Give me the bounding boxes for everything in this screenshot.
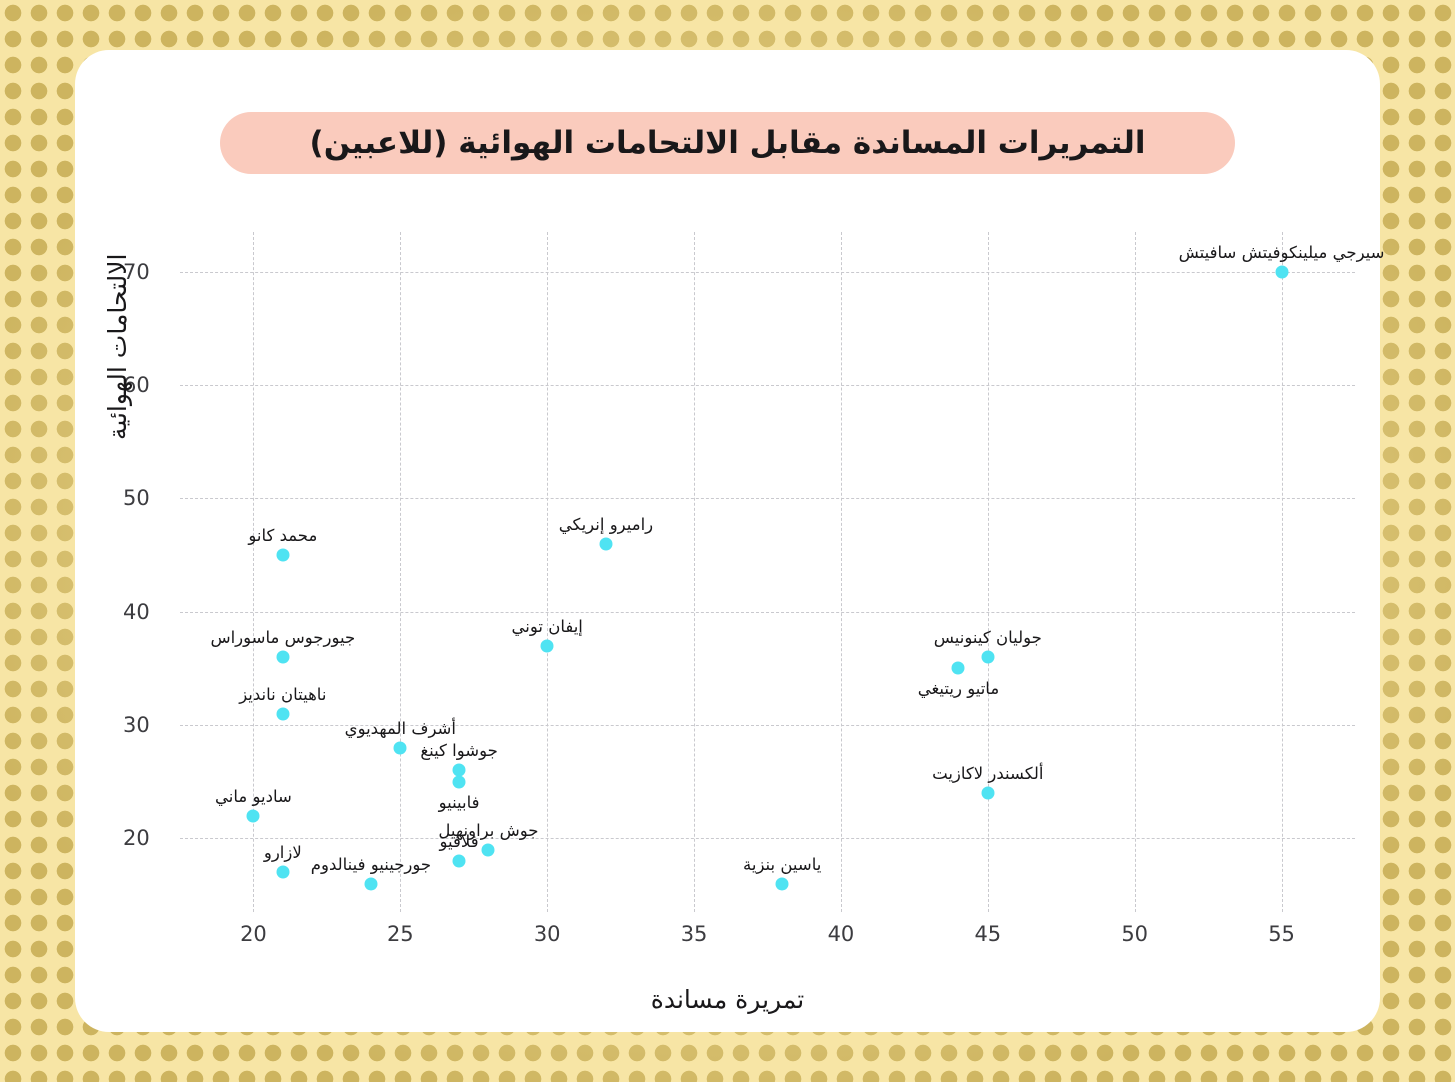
scatter-point[interactable] xyxy=(1275,265,1288,278)
scatter-point[interactable] xyxy=(276,549,289,562)
gridline-vertical xyxy=(1135,232,1136,912)
scatter-point[interactable] xyxy=(276,707,289,720)
gridline-horizontal xyxy=(180,612,1355,613)
x-tick-label: 35 xyxy=(681,922,708,946)
scatter-point-label: جيورجوس ماسوراس xyxy=(210,628,355,647)
scatter-point[interactable] xyxy=(247,809,260,822)
scatter-point[interactable] xyxy=(453,775,466,788)
scatter-point[interactable] xyxy=(364,877,377,890)
scatter-point[interactable] xyxy=(776,877,789,890)
scatter-point-label: ياسين بنزية xyxy=(743,855,821,874)
y-tick-label: 30 xyxy=(123,713,167,737)
gridline-vertical xyxy=(547,232,548,912)
scatter-point[interactable] xyxy=(276,866,289,879)
scatter-point[interactable] xyxy=(394,741,407,754)
gridline-vertical xyxy=(1282,232,1283,912)
scatter-point-label: محمد كانو xyxy=(248,526,317,545)
scatter-point-label: جوشوا كينغ xyxy=(420,741,498,760)
scatter-point[interactable] xyxy=(981,651,994,664)
scatter-point-label: فابينيو xyxy=(439,793,480,812)
gridline-horizontal xyxy=(180,498,1355,499)
y-tick-label: 20 xyxy=(123,826,167,850)
x-axis-title: تمريرة مساندة xyxy=(75,985,1380,1014)
x-tick-label: 25 xyxy=(387,922,414,946)
gridline-vertical xyxy=(694,232,695,912)
scatter-point-label: ناهيتان نانديز xyxy=(239,685,326,704)
scatter-point-label: جوش براونهيل xyxy=(438,821,538,840)
x-tick-label: 50 xyxy=(1121,922,1148,946)
scatter-point[interactable] xyxy=(541,639,554,652)
x-tick-label: 55 xyxy=(1268,922,1295,946)
chart-card: التمريرات المساندة مقابل الالتحامات الهو… xyxy=(75,50,1380,1032)
page-title: التمريرات المساندة مقابل الالتحامات الهو… xyxy=(310,125,1146,161)
x-tick-label: 20 xyxy=(240,922,267,946)
gridline-horizontal xyxy=(180,725,1355,726)
scatter-point[interactable] xyxy=(952,662,965,675)
gridline-horizontal xyxy=(180,838,1355,839)
x-tick-label: 45 xyxy=(974,922,1001,946)
scatter-point-label: راميرو إنريكي xyxy=(559,515,653,534)
scatter-point[interactable] xyxy=(981,787,994,800)
chart-title-pill: التمريرات المساندة مقابل الالتحامات الهو… xyxy=(220,112,1235,174)
gridline-vertical xyxy=(988,232,989,912)
scatter-point[interactable] xyxy=(276,651,289,664)
scatter-point[interactable] xyxy=(453,855,466,868)
scatter-point[interactable] xyxy=(482,843,495,856)
gridline-vertical xyxy=(400,232,401,912)
gridline-horizontal xyxy=(180,272,1355,273)
y-tick-label: 40 xyxy=(123,600,167,624)
gridline-horizontal xyxy=(180,385,1355,386)
y-tick-label: 50 xyxy=(123,486,167,510)
y-axis-title: الالتحامات الهوائية xyxy=(103,254,132,440)
x-tick-label: 30 xyxy=(534,922,561,946)
scatter-point-label: فلافيو xyxy=(440,832,479,851)
scatter-point-label: جورجينيو فينالدوم xyxy=(311,855,431,874)
x-tick-label: 40 xyxy=(828,922,855,946)
gridline-vertical xyxy=(841,232,842,912)
scatter-plot-area: 2025303540455055 203040506070 سيرجي ميلي… xyxy=(180,232,1355,912)
scatter-point-label: لازارو xyxy=(264,843,302,862)
scatter-point[interactable] xyxy=(599,537,612,550)
